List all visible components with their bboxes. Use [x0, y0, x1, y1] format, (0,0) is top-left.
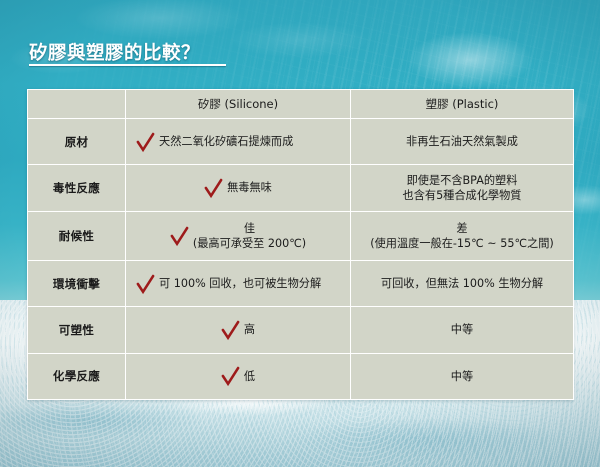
cell-text: 可回收，但無法 100% 生物分解 [381, 277, 543, 290]
cell-plastic-raw-material: 非再生石油天然氣製成 [351, 119, 574, 165]
row-label-toxicity: 毒性反應 [28, 165, 126, 211]
table-row: 毒性反應 無毒無味 即使是不含BPA的塑料 也含有5種合成化學物質 [28, 165, 574, 211]
check-mark-icon [204, 177, 223, 199]
row-label-environmental-impact: 環境衝擊 [28, 261, 126, 307]
cell-plastic-moldability: 中等 [351, 307, 574, 353]
cell-text: 中等 [451, 323, 473, 336]
comparison-table-wrapper: 矽膠 (Silicone) 塑膠 (Plastic) 原材 天然二氧化矽礦石提煉… [27, 89, 573, 400]
cell-text: 高 [244, 323, 255, 336]
check-mark-icon [221, 319, 240, 341]
cell-text-line1: 差 [456, 222, 467, 235]
slide-canvas: 矽膠與塑膠的比較？ 矽膠 (Silicone) 塑膠 (Plastic) 原材 [0, 0, 600, 467]
table-header-row: 矽膠 (Silicone) 塑膠 (Plastic) [28, 90, 574, 119]
cell-text-line1: 即使是不含BPA的塑料 [407, 174, 518, 187]
row-label-moldability: 可塑性 [28, 307, 126, 353]
row-label-raw-material: 原材 [28, 119, 126, 165]
column-header-feature [28, 90, 126, 119]
cell-plastic-chemical-reactivity: 中等 [351, 353, 574, 399]
check-mark-icon [170, 225, 189, 247]
check-mark-icon [221, 365, 240, 387]
cell-text-line2: 也含有5種合成化學物質 [403, 189, 522, 202]
cell-plastic-toxicity: 即使是不含BPA的塑料 也含有5種合成化學物質 [351, 165, 574, 211]
cell-text-line2: (使用溫度一般在-15℃ ~ 55℃之間) [370, 237, 554, 250]
comparison-table: 矽膠 (Silicone) 塑膠 (Plastic) 原材 天然二氧化矽礦石提煉… [27, 89, 574, 400]
table-row: 原材 天然二氧化矽礦石提煉而成 非再生石油天然氣製成 [28, 119, 574, 165]
cell-text-line2: (最高可承受至 200℃) [193, 236, 306, 251]
cell-text: 天然二氧化矽礦石提煉而成 [159, 135, 293, 148]
table-row: 耐候性 佳 (最高可承受至 200℃) [28, 211, 574, 260]
table-body: 原材 天然二氧化矽礦石提煉而成 非再生石油天然氣製成 [28, 119, 574, 400]
cell-text: 非再生石油天然氣製成 [406, 135, 518, 148]
cell-plastic-environmental-impact: 可回收，但無法 100% 生物分解 [351, 261, 574, 307]
cell-text: 可 100% 回收，也可被生物分解 [159, 277, 321, 290]
check-mark-icon [136, 273, 155, 295]
cell-silicone-toxicity: 無毒無味 [126, 165, 351, 211]
row-label-chemical-reactivity: 化學反應 [28, 353, 126, 399]
row-label-weather-resistance: 耐候性 [28, 211, 126, 260]
cell-text-line1: 佳 [244, 222, 255, 235]
cell-text: 中等 [451, 370, 473, 383]
cell-plastic-weather-resistance: 差 (使用溫度一般在-15℃ ~ 55℃之間) [351, 211, 574, 260]
column-header-plastic: 塑膠 (Plastic) [351, 90, 574, 119]
cell-silicone-chemical-reactivity: 低 [126, 353, 351, 399]
slide-title-underline [29, 64, 226, 66]
table-row: 環境衝擊 可 100% 回收，也可被生物分解 可回收，但無法 100% 生物分解 [28, 261, 574, 307]
cell-silicone-weather-resistance: 佳 (最高可承受至 200℃) [126, 211, 351, 260]
check-mark-icon [136, 131, 155, 153]
cell-silicone-raw-material: 天然二氧化矽礦石提煉而成 [126, 119, 351, 165]
table-head: 矽膠 (Silicone) 塑膠 (Plastic) [28, 90, 574, 119]
cell-silicone-environmental-impact: 可 100% 回收，也可被生物分解 [126, 261, 351, 307]
table-row: 可塑性 高 中等 [28, 307, 574, 353]
cell-text: 低 [244, 370, 255, 383]
cell-text: 無毒無味 [227, 181, 272, 194]
table-row: 化學反應 低 中等 [28, 353, 574, 399]
slide-title: 矽膠與塑膠的比較？ [29, 39, 200, 65]
column-header-silicone: 矽膠 (Silicone) [126, 90, 351, 119]
cell-silicone-moldability: 高 [126, 307, 351, 353]
